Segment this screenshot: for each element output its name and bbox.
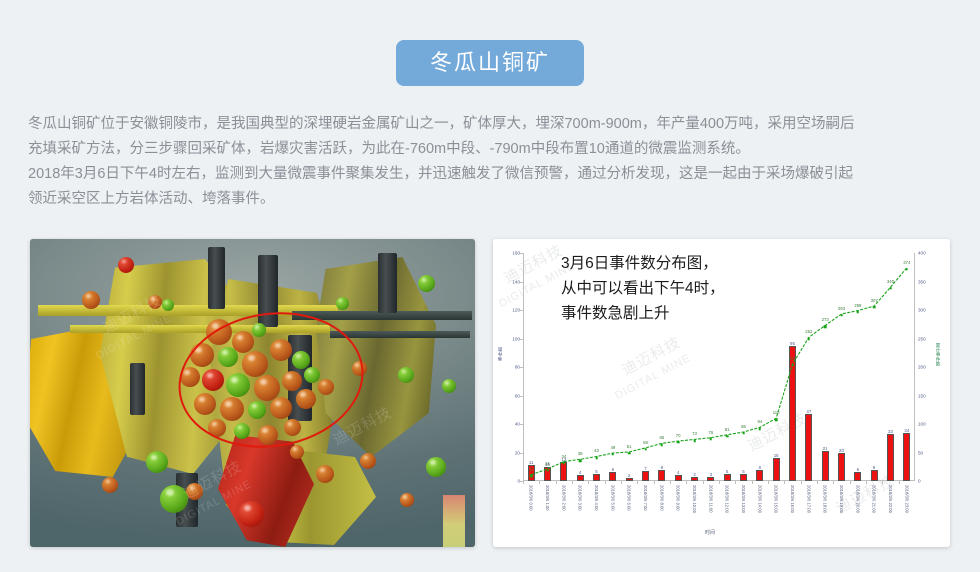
page-header: 冬瓜山铜矿 xyxy=(0,0,980,86)
event-sphere xyxy=(336,297,349,310)
x-axis-tick-label: 2018/3/6 21:00 xyxy=(872,485,877,513)
line-data-point[interactable] xyxy=(759,427,762,430)
x-axis-tick-label: 2018/3/6 20:00 xyxy=(855,485,860,513)
shaft-3 xyxy=(130,363,145,415)
description-line-2: 充填采矿方法，分三步骤回采矿体，岩爆灾害活跃，为此在-760m中段、-790m中… xyxy=(28,137,952,162)
line-data-point[interactable] xyxy=(677,441,680,444)
line-value-label: 70 xyxy=(676,433,681,438)
mine-3d-panel[interactable]: 0.88 0.44 0.00 -0.44 -0.88 采空区上方微震事件 Z X… xyxy=(30,239,475,547)
x-axis-tick-label: 2018/3/6 3:00 xyxy=(578,485,583,511)
line-value-label: 374 xyxy=(903,260,910,265)
event-sphere xyxy=(426,457,446,477)
shaft-1 xyxy=(208,247,225,309)
x-tick-mark xyxy=(719,481,720,484)
event-chart[interactable]: 迪迈科技 DIGITAL MINE 迪迈科技 DIGITAL MINE 迪迈科技… xyxy=(493,239,950,547)
shaft-6 xyxy=(378,253,397,313)
line-data-point[interactable] xyxy=(546,469,549,472)
line-data-point[interactable] xyxy=(644,448,647,451)
line-value-label: 81 xyxy=(725,427,730,432)
x-axis-tick-label: 2018/3/6 10:00 xyxy=(692,485,697,513)
event-sphere xyxy=(316,465,334,483)
cumulative-line xyxy=(523,253,915,481)
y-axis-tick-left: 160 xyxy=(512,251,520,256)
x-tick-mark xyxy=(882,481,883,484)
x-axis-tick-label: 2018/3/6 12:00 xyxy=(725,485,730,513)
x-axis-tick-label: 2018/3/6 1:00 xyxy=(545,485,550,511)
x-tick-mark xyxy=(703,481,704,484)
line-data-point[interactable] xyxy=(906,268,909,271)
line-data-point[interactable] xyxy=(775,418,778,421)
line-value-label: 94 xyxy=(757,419,762,424)
event-sphere xyxy=(398,367,414,383)
y-axis-tick-left: 120 xyxy=(512,308,520,313)
line-data-point[interactable] xyxy=(726,435,729,438)
line-value-label: 73 xyxy=(692,431,697,436)
colorbar-label: 0.44 xyxy=(470,526,475,531)
event-chart-panel[interactable]: 迪迈科技 DIGITAL MINE 迪迈科技 DIGITAL MINE 迪迈科技… xyxy=(493,239,950,547)
x-axis-title: 时间 xyxy=(705,529,715,536)
line-value-label: 51 xyxy=(627,444,632,449)
x-tick-mark xyxy=(817,481,818,484)
event-sphere xyxy=(148,295,162,309)
x-tick-mark xyxy=(768,481,769,484)
line-data-point[interactable] xyxy=(693,439,696,442)
x-tick-mark xyxy=(556,481,557,484)
y-axis-tick-left: 140 xyxy=(512,279,520,284)
line-data-point[interactable] xyxy=(563,462,566,465)
x-axis-tick-label: 2018/3/6 14:00 xyxy=(757,485,762,513)
line-data-point[interactable] xyxy=(791,364,794,367)
line-value-label: 293 xyxy=(838,306,845,311)
line-data-point[interactable] xyxy=(530,475,533,478)
line-value-label: 43 xyxy=(594,448,599,453)
description-block: 冬瓜山铜矿位于安徽铜陵市，是我国典型的深埋硬岩金属矿山之一，矿体厚大，埋深700… xyxy=(28,112,952,212)
line-value-label: 58 xyxy=(643,440,648,445)
line-data-point[interactable] xyxy=(612,453,615,456)
event-sphere xyxy=(160,485,188,513)
x-axis-tick-label: 2018/3/6 4:00 xyxy=(594,485,599,511)
line-value-label: 86 xyxy=(741,424,746,429)
x-tick-mark xyxy=(686,481,687,484)
line-value-label: 252 xyxy=(805,329,812,334)
colorbar-label: 0.88 xyxy=(470,497,475,502)
event-sphere xyxy=(102,477,118,493)
line-value-label: 21 xyxy=(545,461,550,466)
x-tick-mark xyxy=(605,481,606,484)
line-data-point[interactable] xyxy=(710,438,713,441)
panels-row: 0.88 0.44 0.00 -0.44 -0.88 采空区上方微震事件 Z X… xyxy=(30,239,950,547)
x-axis-tick-label: 2018/3/6 19:00 xyxy=(839,485,844,513)
x-tick-mark xyxy=(539,481,540,484)
drift-beam-4 xyxy=(330,331,470,338)
x-axis-tick-label: 2018/3/6 0:00 xyxy=(529,485,534,511)
event-sphere xyxy=(82,291,100,309)
y-axis-title-left: 事件数 xyxy=(497,347,503,361)
event-sphere xyxy=(146,451,168,473)
mine-3d-scene[interactable]: 0.88 0.44 0.00 -0.44 -0.88 采空区上方微震事件 Z X… xyxy=(30,239,475,547)
x-axis-tick-label: 2018/3/6 9:00 xyxy=(676,485,681,511)
line-value-label: 11 xyxy=(529,467,533,472)
line-data-point[interactable] xyxy=(628,452,631,455)
x-tick-mark xyxy=(621,481,622,484)
magnitude-colorbar xyxy=(443,495,465,547)
event-sphere xyxy=(418,275,435,292)
line-value-label: 38 xyxy=(578,451,583,456)
x-axis-tick-label: 2018/3/6 5:00 xyxy=(610,485,615,511)
event-sphere xyxy=(290,445,304,459)
x-tick-mark xyxy=(752,481,753,484)
x-axis-tick-label: 2018/3/6 7:00 xyxy=(643,485,648,511)
line-value-label: 76 xyxy=(708,430,713,435)
x-axis-tick-label: 2018/3/6 8:00 xyxy=(659,485,664,511)
line-value-label: 34 xyxy=(561,454,566,459)
description-line-3: 2018年3月6日下午4时左右，监测到大量微震事件聚集发生，并迅速触发了微信预警… xyxy=(28,162,952,187)
description-line-1: 冬瓜山铜矿位于安徽铜陵市，是我国典型的深埋硬岩金属矿山之一，矿体厚大，埋深700… xyxy=(28,112,952,137)
x-axis-tick-label: 2018/3/6 2:00 xyxy=(561,485,566,511)
x-axis-tick-label: 2018/3/6 16:00 xyxy=(790,485,795,513)
x-tick-mark xyxy=(654,481,655,484)
x-tick-mark xyxy=(866,481,867,484)
line-data-point[interactable] xyxy=(873,306,876,309)
event-sphere xyxy=(360,453,376,469)
line-value-label: 49 xyxy=(610,445,615,450)
line-data-point[interactable] xyxy=(579,459,582,462)
x-tick-mark xyxy=(588,481,589,484)
event-sphere xyxy=(400,493,414,507)
event-sphere xyxy=(118,257,134,273)
description-line-4: 领近采空区上方岩体活动、垮落事件。 xyxy=(28,187,952,212)
line-value-label: 205 xyxy=(789,356,796,361)
x-tick-mark xyxy=(833,481,834,484)
line-data-point[interactable] xyxy=(595,456,598,459)
x-axis-tick-label: 2018/3/6 18:00 xyxy=(823,485,828,513)
line-value-label: 110 xyxy=(773,410,780,415)
line-data-point[interactable] xyxy=(840,314,843,317)
x-tick-mark xyxy=(899,481,900,484)
chart-plot-area[interactable]: 0204060801001201401600501001502002503003… xyxy=(523,253,915,481)
event-sphere xyxy=(186,483,203,500)
y-axis-tick-left: 100 xyxy=(512,336,520,341)
event-sphere xyxy=(238,501,264,527)
y-axis-title-right: 累计事件数 xyxy=(935,343,941,366)
x-tick-mark xyxy=(670,481,671,484)
line-data-point[interactable] xyxy=(742,432,745,435)
x-axis-tick-label: 2018/3/6 22:00 xyxy=(888,485,893,513)
x-axis-tick-label: 2018/3/6 15:00 xyxy=(774,485,779,513)
line-data-point[interactable] xyxy=(808,337,811,340)
x-axis-tick-label: 2018/3/6 6:00 xyxy=(627,485,632,511)
line-value-label: 340 xyxy=(887,279,894,284)
line-data-point[interactable] xyxy=(889,287,892,290)
line-value-label: 273 xyxy=(822,317,829,322)
x-axis-tick-label: 2018/3/6 23:00 xyxy=(904,485,909,513)
x-axis-tick-label: 2018/3/6 13:00 xyxy=(741,485,746,513)
line-value-label: 66 xyxy=(659,435,664,440)
line-value-label: 299 xyxy=(854,303,861,308)
x-tick-mark xyxy=(735,481,736,484)
x-axis-tick-label: 2018/3/6 17:00 xyxy=(806,485,811,513)
x-axis-tick-label: 2018/3/6 11:00 xyxy=(708,485,713,513)
x-tick-mark xyxy=(637,481,638,484)
event-sphere xyxy=(162,299,174,311)
event-sphere xyxy=(442,379,456,393)
line-data-point[interactable] xyxy=(857,311,860,314)
line-data-point[interactable] xyxy=(824,325,827,328)
x-tick-mark xyxy=(801,481,802,484)
line-value-label: 307 xyxy=(871,298,878,303)
x-tick-mark xyxy=(523,481,524,484)
line-data-point[interactable] xyxy=(661,443,664,446)
page-title: 冬瓜山铜矿 xyxy=(396,40,584,86)
x-tick-mark xyxy=(850,481,851,484)
x-tick-mark xyxy=(572,481,573,484)
x-tick-mark xyxy=(784,481,785,484)
